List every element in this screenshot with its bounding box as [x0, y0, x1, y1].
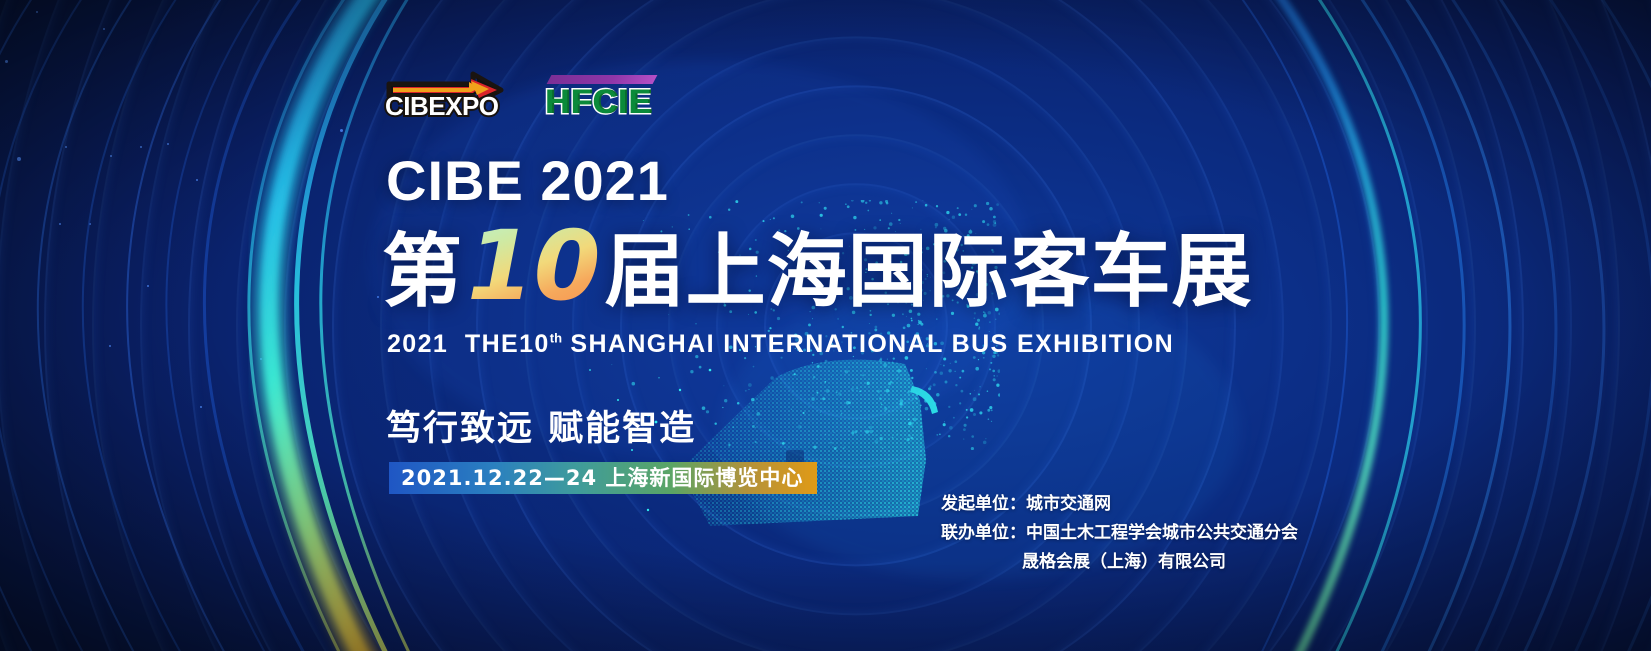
cibexpo-logo[interactable]: CIBEXPO — [385, 72, 505, 120]
english-year: 2021 — [387, 330, 448, 358]
sponsor-line-1: 发起单位：城市交通网 — [941, 490, 1298, 519]
sponsor-line-3: 晟格会展（上海）有限公司 — [941, 548, 1298, 577]
hfcie-letter-h: H — [545, 85, 570, 119]
hfcie-letter-i: I — [618, 85, 627, 119]
english-title: 2021 THE10th SHANGHAI INTERNATIONAL BUS … — [387, 330, 1174, 359]
english-ordinal: th — [550, 331, 562, 346]
hfcie-letter-f: F — [571, 85, 592, 119]
hfcie-letters: HFCIE — [545, 85, 651, 119]
headline-suffix: 届上海国际客车展 — [605, 232, 1253, 312]
hfcie-letter-e: E — [628, 85, 651, 119]
date-venue-badge: 2021.12.22—24 上海新国际博览中心 — [389, 462, 817, 494]
sponsor-line-2: 联办单位：中国土木工程学会城市公共交通分会 — [941, 519, 1298, 548]
hfcie-letter-c: C — [592, 85, 617, 119]
hfcie-logo[interactable]: HFCIE — [545, 73, 651, 119]
slogan: 笃行致远 赋能智造 — [386, 400, 696, 451]
english-the: THE10 — [465, 330, 550, 358]
english-rest: SHANGHAI INTERNATIONAL BUS EXHIBITION — [570, 330, 1174, 358]
logo-row: CIBEXPO HFCIE — [385, 72, 651, 120]
headline: 第 10 届上海国际客车展 — [382, 228, 1253, 316]
event-banner: CIBEXPO HFCIE CIBE 2021 第 10 届上海国际客车展 20… — [0, 0, 1651, 651]
headline-prefix: 第 — [382, 232, 463, 312]
headline-edition-number: 10 — [463, 218, 605, 314]
event-code: CIBE 2021 — [386, 148, 669, 213]
cibexpo-wordmark: CIBEXPO — [385, 91, 499, 122]
sponsor-block: 发起单位：城市交通网 联办单位：中国土木工程学会城市公共交通分会 晟格会展（上海… — [941, 490, 1298, 577]
